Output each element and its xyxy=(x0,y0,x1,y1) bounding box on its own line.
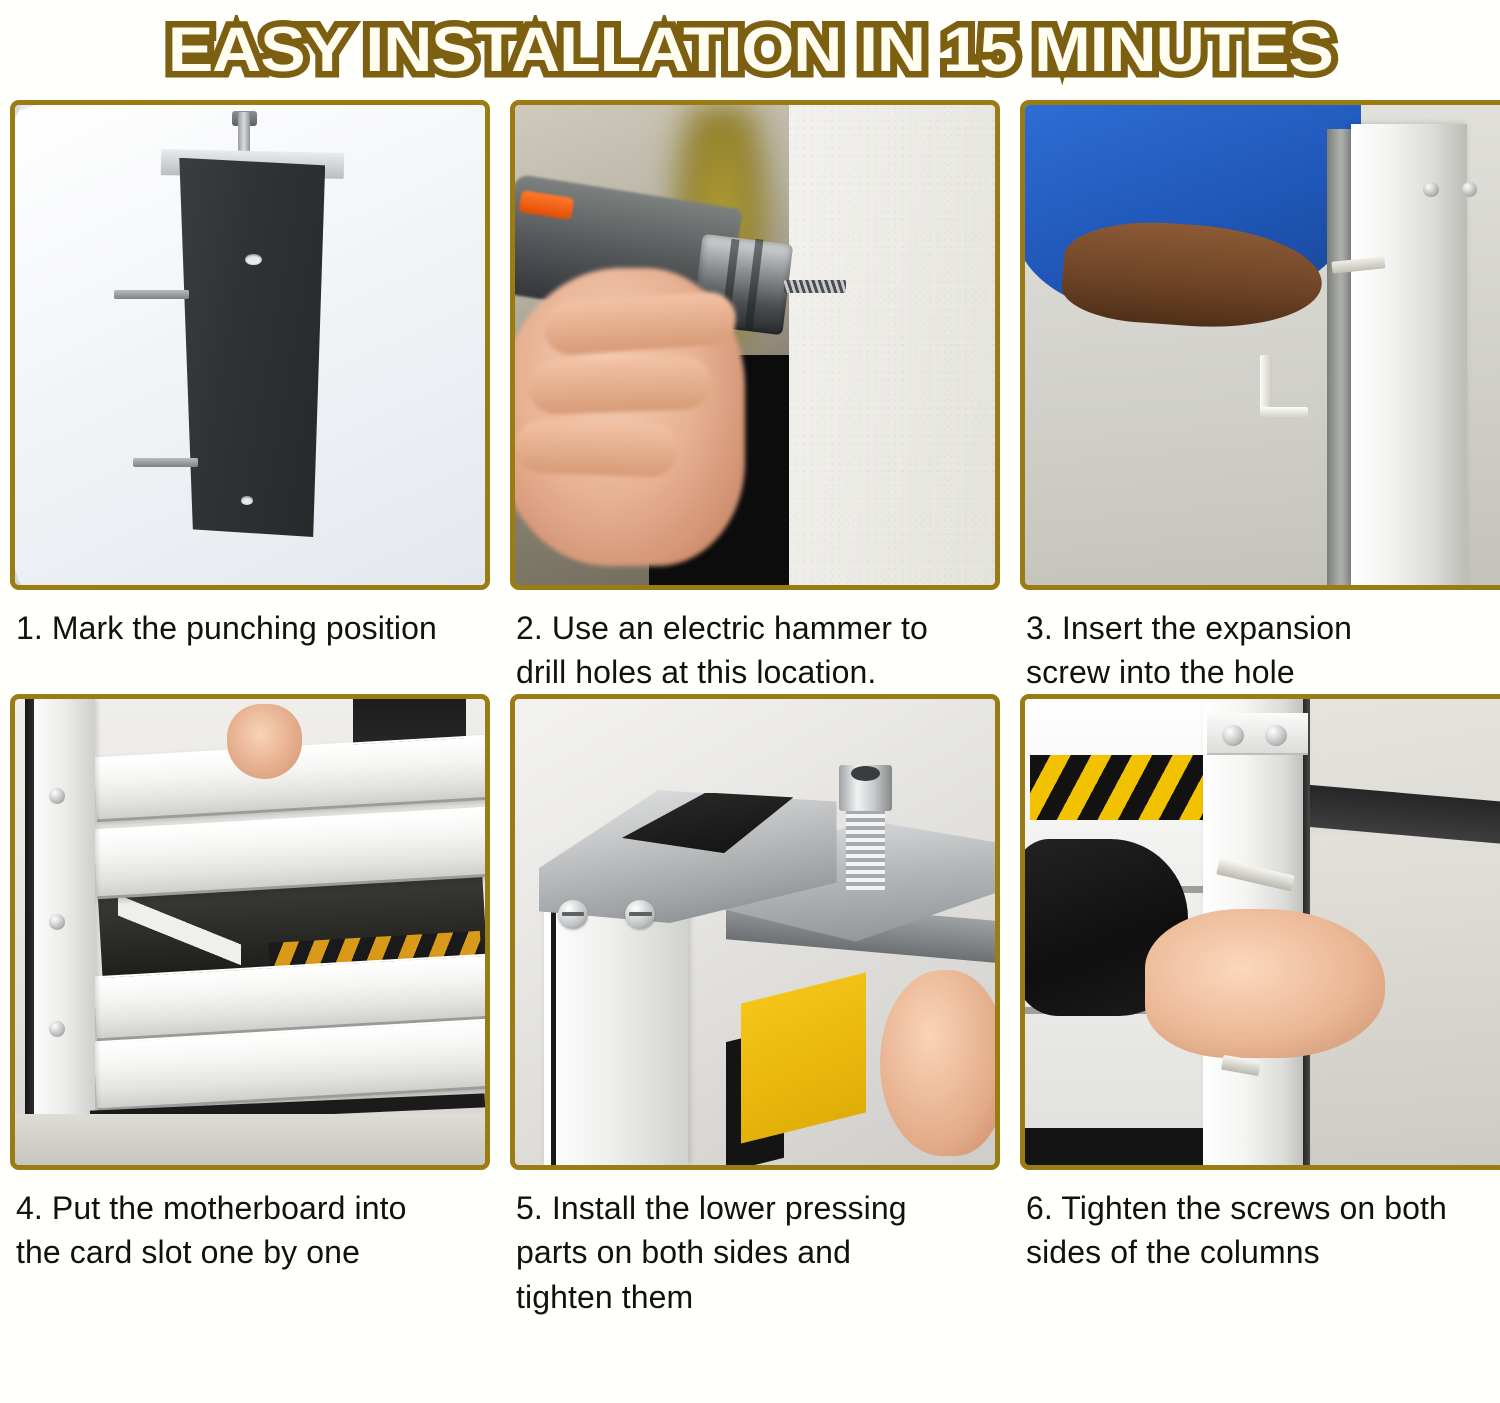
scene-pressing-clamp xyxy=(515,699,995,1165)
caption-line: the card slot one by one xyxy=(16,1230,486,1274)
scene-drilling-wall xyxy=(515,105,995,585)
caption-line: 2. Use an electric hammer to xyxy=(516,606,996,650)
column-edge xyxy=(1327,129,1353,585)
scene-tighten-screws xyxy=(1025,699,1500,1165)
bracket-screw xyxy=(625,900,655,929)
caption-line: 6. Tighten the screws on both xyxy=(1026,1186,1500,1230)
step-1-photo xyxy=(10,100,490,590)
mounting-plate xyxy=(175,158,325,537)
caption-line: 3. Insert the expansion xyxy=(1026,606,1500,650)
step-5: 5. Install the lower pressing parts on b… xyxy=(510,694,1000,1318)
diagonal-brace xyxy=(118,890,240,969)
step-4-caption: 4. Put the motherboard into the card slo… xyxy=(10,1170,490,1274)
caption-line: 1. Mark the punching position xyxy=(16,606,486,650)
hand xyxy=(1145,909,1385,1058)
step-6-photo xyxy=(1020,694,1500,1170)
step-3-caption: 3. Insert the expansion screw into the h… xyxy=(1020,590,1500,694)
step-4-photo xyxy=(10,694,490,1170)
step-3-photo xyxy=(1020,100,1500,590)
caption-line: sides of the columns xyxy=(1026,1230,1500,1274)
finger xyxy=(529,356,713,415)
caption-line: 4. Put the motherboard into xyxy=(16,1186,486,1230)
thumb xyxy=(880,970,1000,1156)
white-column xyxy=(544,895,688,1165)
column-screw xyxy=(1423,182,1438,197)
textured-wall xyxy=(789,105,995,585)
header-banner: EASY INSTALLATION IN 15 MINUTES xyxy=(0,0,1500,100)
step-2-photo xyxy=(510,100,1000,590)
stud-upper-icon xyxy=(114,290,189,300)
scene-mounting-plate xyxy=(15,105,485,585)
step-2-caption: 2. Use an electric hammer to drill holes… xyxy=(510,590,1000,694)
floor-strip xyxy=(15,1114,485,1165)
step-5-photo xyxy=(510,694,1000,1170)
step-6-caption: 6. Tighten the screws on both sides of t… xyxy=(1020,1170,1500,1274)
installation-steps-grid: 1. Mark the punching position xyxy=(0,100,1500,1319)
hand xyxy=(227,704,302,779)
caption-line: drill holes at this location. xyxy=(516,650,996,694)
step-6: 6. Tighten the screws on both sides of t… xyxy=(1020,694,1500,1318)
page-title: EASY INSTALLATION IN 15 MINUTES xyxy=(168,19,1333,82)
column-post xyxy=(34,699,95,1128)
step-1-caption: 1. Mark the punching position xyxy=(10,590,490,650)
drill-bit-icon xyxy=(784,280,846,292)
finger xyxy=(514,419,679,477)
post-screw xyxy=(49,788,65,804)
white-column xyxy=(1351,124,1466,585)
caption-line: tighten them xyxy=(516,1275,996,1319)
caption-line: 5. Install the lower pressing xyxy=(516,1186,996,1230)
post-screw xyxy=(49,1021,65,1037)
bracket-screw xyxy=(558,900,588,929)
post-screw xyxy=(49,914,65,930)
stud-lower-icon xyxy=(133,458,199,468)
marking-hole-lower xyxy=(241,496,253,505)
caption-line: parts on both sides and xyxy=(516,1230,996,1274)
scene-expansion-screw xyxy=(1025,105,1500,585)
scene-insert-boards xyxy=(15,699,485,1165)
step-5-caption: 5. Install the lower pressing parts on b… xyxy=(510,1170,1000,1318)
step-2: 2. Use an electric hammer to drill holes… xyxy=(510,100,1000,694)
allen-key-icon xyxy=(1260,407,1308,419)
panel-base-seal xyxy=(1025,1128,1217,1165)
threaded-bolt-shaft-icon xyxy=(846,806,884,890)
column-screw xyxy=(1222,725,1244,746)
step-1: 1. Mark the punching position xyxy=(10,100,490,694)
step-3: 3. Insert the expansion screw into the h… xyxy=(1020,100,1500,694)
hazard-stripe-panel xyxy=(1030,755,1203,820)
bolt-socket-hole xyxy=(851,766,880,781)
step-4: 4. Put the motherboard into the card slo… xyxy=(10,694,490,1318)
column-seam xyxy=(551,904,556,1165)
caption-line: screw into the hole xyxy=(1026,650,1500,694)
